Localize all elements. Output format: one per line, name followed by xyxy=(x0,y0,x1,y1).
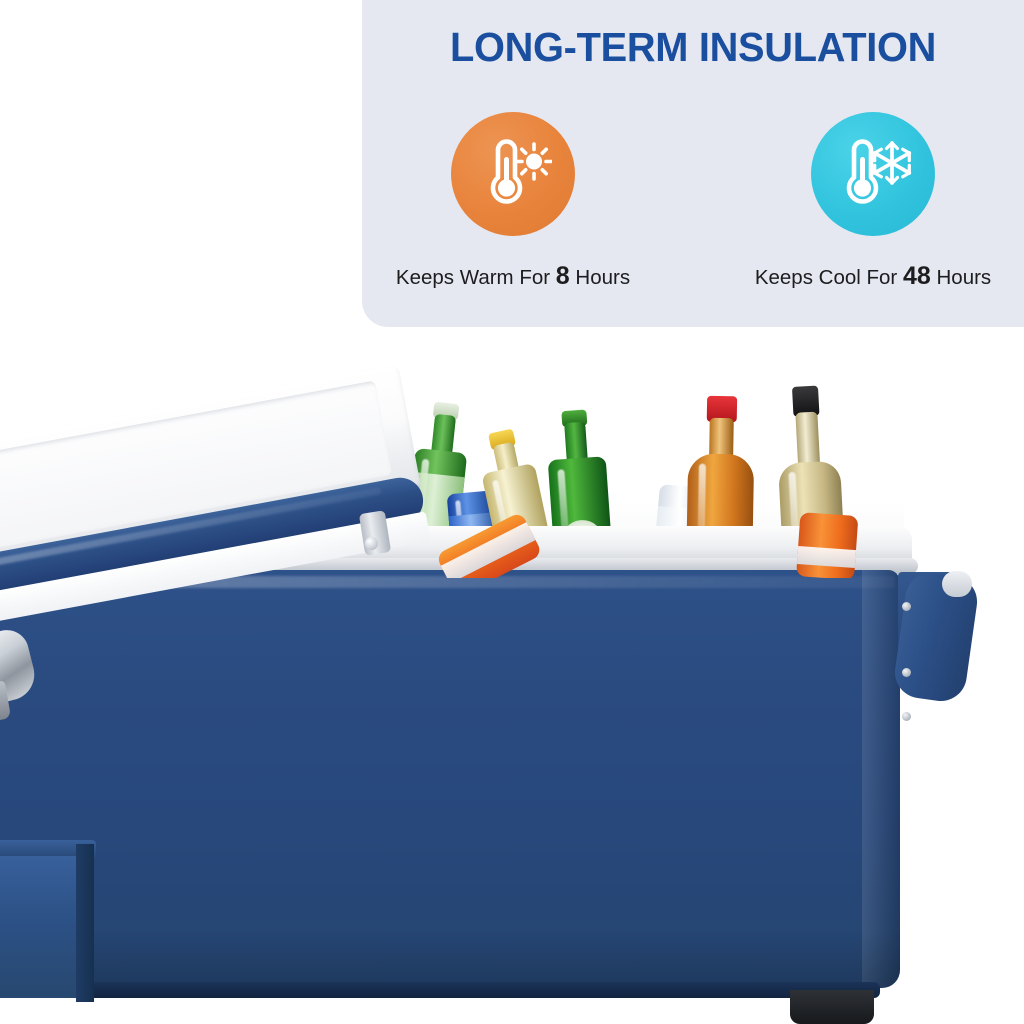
cool-caption-suffix: Hours xyxy=(936,266,991,289)
insulation-info-panel: LONG-TERM INSULATION xyxy=(362,0,1024,327)
thermometer-snowflake-icon xyxy=(834,137,912,211)
side-handle-cap xyxy=(942,571,972,597)
feature-list: Keeps Warm For 8 Hours xyxy=(362,112,1024,291)
warm-badge xyxy=(451,112,575,236)
warm-caption: Keeps Warm For 8 Hours xyxy=(396,262,630,291)
lid-hinge-pin xyxy=(365,537,378,550)
cooler-leg xyxy=(790,990,874,1024)
cooler-body-shadow xyxy=(0,930,900,988)
thermometer-sun-icon xyxy=(474,137,552,211)
handle-screw xyxy=(902,668,911,677)
handle-screw xyxy=(902,602,911,611)
cool-badge xyxy=(811,112,935,236)
warm-caption-suffix: Hours xyxy=(575,266,630,289)
lower-shelf-side xyxy=(76,844,94,1002)
handle-screw xyxy=(902,712,911,721)
lower-shelf-face xyxy=(0,856,80,998)
cooler-body-right-edge xyxy=(862,570,900,988)
warm-hours-value: 8 xyxy=(556,262,570,290)
can-label xyxy=(797,546,856,568)
page-title: LONG-TERM INSULATION xyxy=(372,24,1014,71)
feature-keeps-warm: Keeps Warm For 8 Hours xyxy=(388,112,638,291)
orange-label-can-right xyxy=(796,512,858,578)
cool-caption: Keeps Cool For 48 Hours xyxy=(755,262,991,291)
bottle-neck xyxy=(795,412,820,469)
feature-keeps-cool: Keeps Cool For 48 Hours xyxy=(748,112,998,291)
cool-caption-prefix: Keeps Cool For xyxy=(755,266,897,289)
can-body xyxy=(796,512,858,578)
warm-caption-prefix: Keeps Warm For xyxy=(396,266,550,289)
cool-hours-value: 48 xyxy=(903,262,931,290)
cooler-base-rail xyxy=(0,982,880,998)
product-marketing-image: LONG-TERM INSULATION xyxy=(0,0,1024,1024)
product-photo-cooler-cart xyxy=(0,330,1024,1024)
